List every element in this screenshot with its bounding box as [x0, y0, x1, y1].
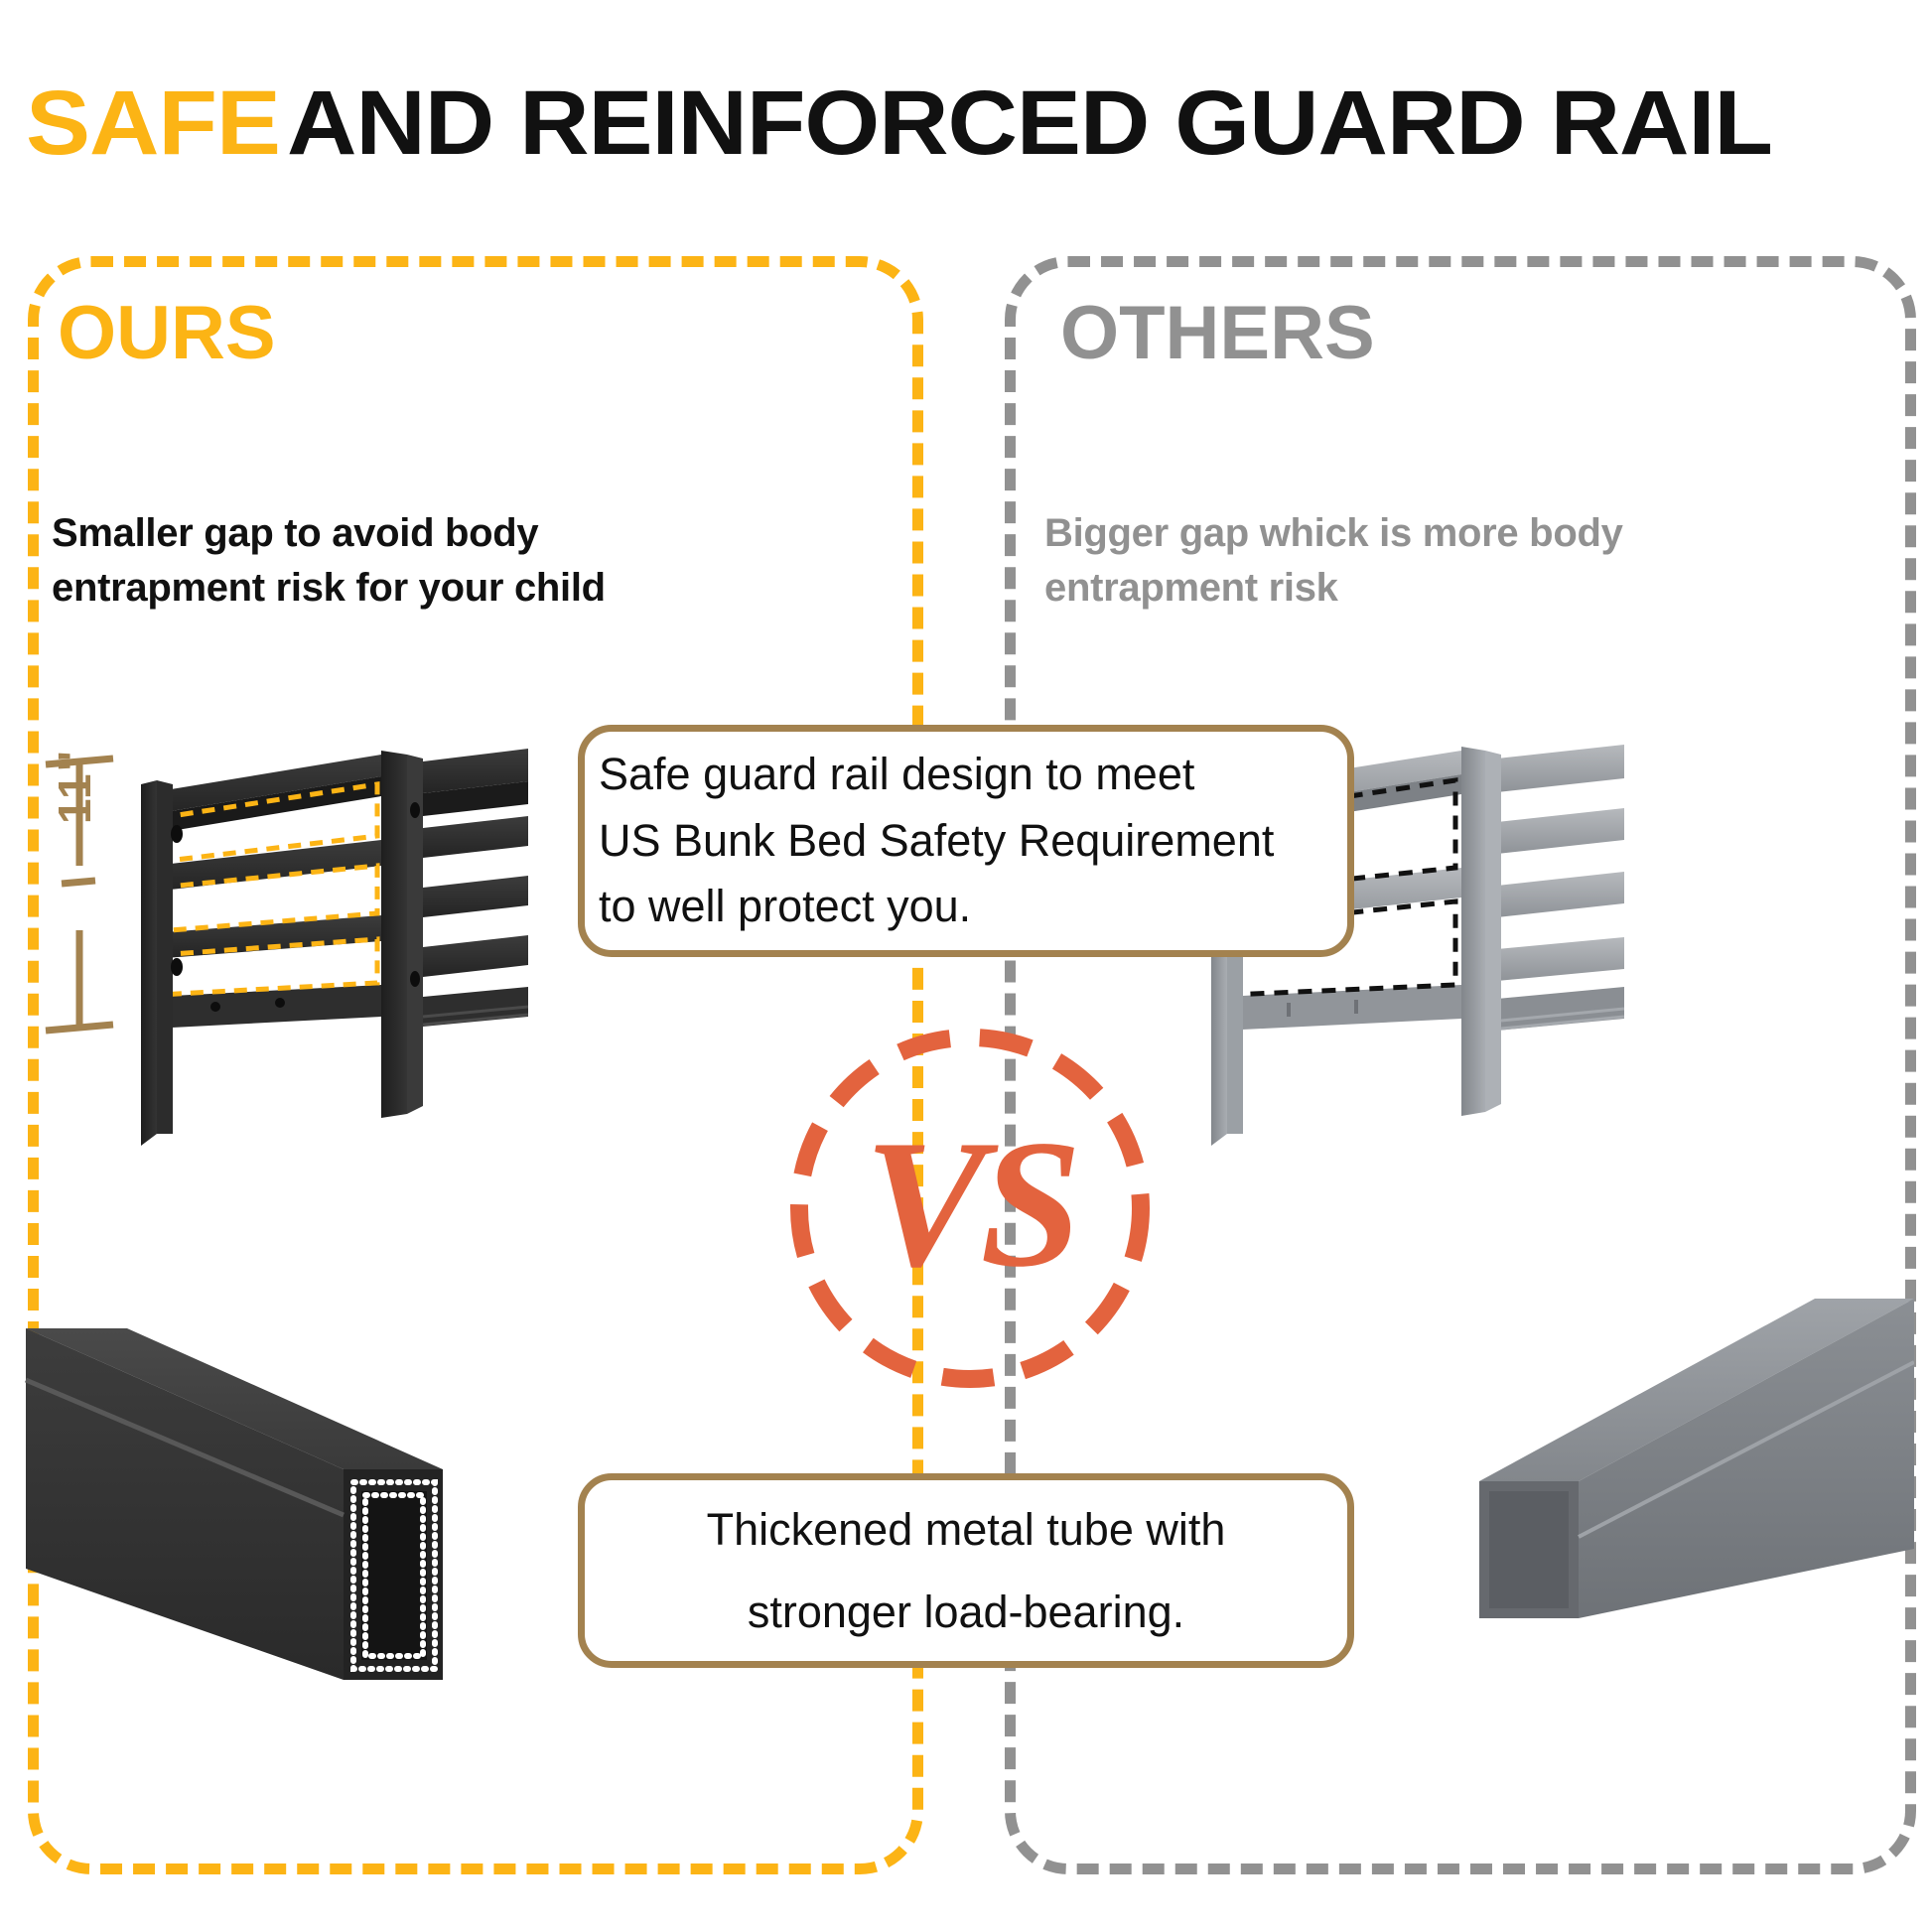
- bed-deck-rail-ours: [153, 985, 381, 1029]
- tube-hollow-ours: [361, 1491, 427, 1660]
- callout-bottom-text: Thickened metal tube with stronger load-…: [585, 1488, 1347, 1654]
- dimension-label-11in: 11": [48, 749, 101, 824]
- callout-top-text: Safe guard rail design to meet US Bunk B…: [585, 742, 1347, 940]
- title-highlight-word: SAFE: [26, 75, 280, 171]
- bed-front-post-ours: [141, 780, 157, 1146]
- callout-thickened-tube: Thickened metal tube with stronger load-…: [578, 1473, 1354, 1668]
- vs-badge: VS: [784, 1023, 1156, 1394]
- bed-far-side-others: [1497, 745, 1624, 1031]
- description-ours: Smaller gap to avoid body entrapment ris…: [52, 506, 786, 616]
- vs-label: VS: [784, 1023, 1156, 1394]
- page-title: SAFEAND REINFORCED GUARD RAIL: [26, 75, 1912, 171]
- bed-corner-post-others: [1461, 747, 1485, 1116]
- metal-tube-ours-illustration: [16, 1320, 461, 1688]
- heading-ours: OURS: [58, 296, 276, 371]
- description-others: Bigger gap whick is more body entrapment…: [1044, 506, 1739, 616]
- comparison-infographic: SAFEAND REINFORCED GUARD RAIL OURS OTHER…: [0, 0, 1932, 1932]
- metal-tube-others-illustration: [1469, 1221, 1914, 1618]
- bed-far-side-ours: [423, 749, 528, 1027]
- bed-corner-post-ours: [381, 751, 407, 1118]
- tube-hollow-others: [1489, 1491, 1569, 1608]
- title-rest-text: AND REINFORCED GUARD RAIL: [287, 75, 1772, 171]
- heading-others: OTHERS: [1060, 296, 1375, 371]
- callout-guard-rail-design: Safe guard rail design to meet US Bunk B…: [578, 725, 1354, 957]
